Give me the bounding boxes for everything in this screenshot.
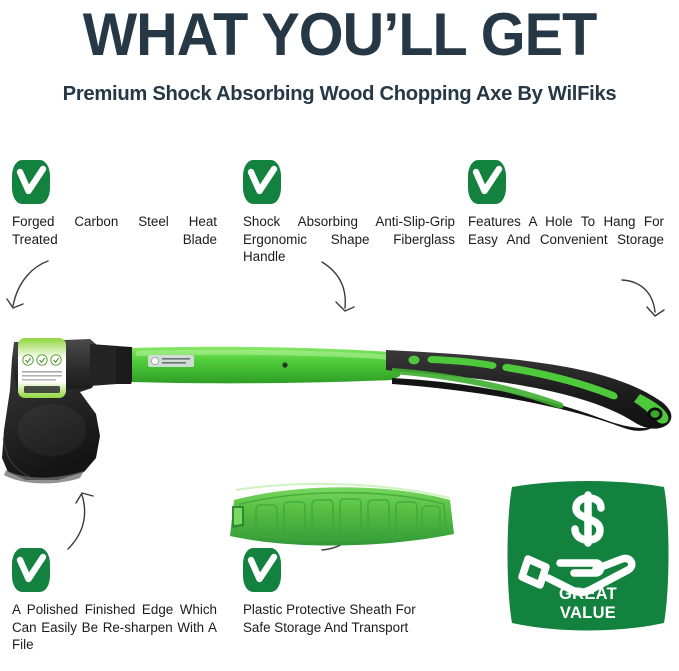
curved-arrow-down-right-icon (620, 268, 668, 324)
feature-item-hanging-hole: Features A Hole To Hang For Easy And Con… (468, 160, 664, 266)
check-badge-icon (12, 160, 50, 204)
handle-decal (148, 355, 194, 367)
great-value-line1: GREAT (559, 585, 617, 603)
feature-item-shock-absorbing-handle: Shock Absorbing Anti-Slip-Grip Ergonomic… (243, 160, 455, 283)
feature-item-label: Features A Hole To Hang For Easy And Con… (468, 213, 664, 266)
check-badge-icon (243, 160, 281, 204)
feature-item-label: Shock Absorbing Anti-Slip-Grip Ergonomic… (243, 213, 455, 283)
great-value-line2: VALUE (560, 604, 616, 622)
feature-item-plastic-sheath: Plastic Protective Sheath For Safe Stora… (243, 548, 443, 636)
curved-arrow-down-left-icon (4, 258, 60, 320)
curved-arrow-up-left-icon (62, 487, 102, 553)
feature-item-forged-carbon-steel: Forged Carbon Steel Heat Treated Blade (12, 160, 217, 266)
axe-head-sticker (18, 338, 66, 398)
check-badge-icon (12, 548, 50, 592)
page-title: WHAT YOU’LL GET (14, 4, 666, 66)
sheath-product-photo (224, 482, 460, 558)
check-badge-icon (468, 160, 506, 204)
feature-item-label: A Polished Finished Edge Which Can Easil… (12, 601, 217, 671)
feature-item-label: Plastic Protective Sheath For Safe Stora… (243, 601, 443, 636)
axe-product-photo (0, 318, 679, 488)
feature-item-label: Forged Carbon Steel Heat Treated Blade (12, 213, 217, 266)
infographic-page: WHAT YOU’LL GET Premium Shock Absorbing … (0, 0, 679, 642)
page-subtitle: Premium Shock Absorbing Wood Chopping Ax… (5, 82, 674, 106)
great-value-label: GREAT VALUE (498, 585, 678, 623)
feature-item-polished-edge: A Polished Finished Edge Which Can Easil… (12, 548, 217, 671)
